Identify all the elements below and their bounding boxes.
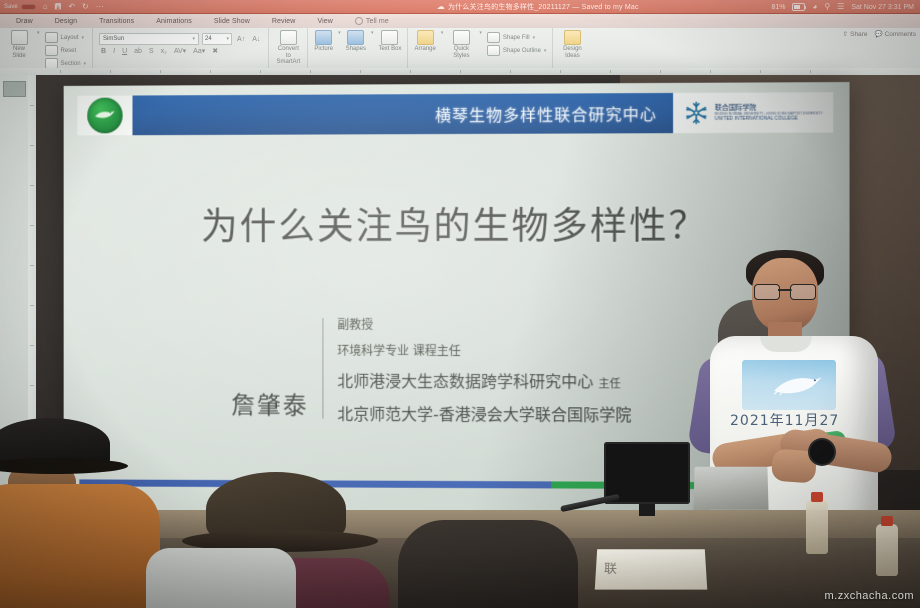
autosave-switch[interactable] (21, 4, 36, 10)
shapes-icon (347, 30, 364, 45)
presenter-title-line: 副教授 (337, 316, 631, 333)
control-center-icon[interactable]: ☰ (837, 3, 844, 11)
uic-name-en: UNITED INTERNATIONAL COLLEGE (715, 116, 823, 121)
shape-fill-label: Shape Fill (503, 35, 530, 41)
shape-outline-chevron-down-icon[interactable]: ▾ (544, 48, 547, 54)
undo-icon[interactable]: ↶ (68, 3, 75, 11)
font-name-input[interactable]: SimSun ▾ (99, 33, 199, 45)
share-comments-bar: ⇧ Share 💬 Comments (843, 30, 916, 38)
bird-icon (93, 108, 117, 120)
tab-animations[interactable]: Animations (145, 18, 203, 25)
clear-formatting-icon[interactable]: ✖ (210, 47, 220, 55)
presenter-role-line: 环境科学专业 课程主任 (337, 342, 631, 359)
quick-styles-label: Quick Styles (448, 46, 474, 59)
presenter-center-role: 主任 (599, 377, 621, 390)
slide-options: Layout ▾ Reset Section ▾ (45, 30, 87, 69)
picture-chevron-down-icon[interactable]: ▾ (338, 30, 341, 36)
shadow-icon[interactable]: S (147, 48, 156, 55)
uic-logo: 联合国际学院 BEIJING NORMAL UNIVERSITY - HONG … (673, 92, 833, 133)
wristwatch-icon (810, 440, 834, 464)
font-name-chevron-down-icon[interactable]: ▾ (193, 36, 196, 42)
picture-button[interactable]: Picture (314, 30, 333, 53)
reset-icon (45, 45, 58, 56)
smartart-icon (280, 30, 297, 45)
shapes-button[interactable]: Shapes (346, 30, 366, 53)
text-box-button[interactable]: Text Box (378, 30, 401, 53)
tell-me-box[interactable]: Tell me (344, 17, 400, 25)
picture-icon (315, 30, 332, 45)
slide-header-band: 横琴生物多样性联合研究中心 (132, 93, 673, 135)
comments-label: Comments (885, 31, 916, 38)
horizontal-ruler[interactable] (0, 68, 920, 75)
shape-outline-label: Shape Outline (503, 48, 541, 54)
quick-styles-button[interactable]: Quick Styles (448, 30, 474, 59)
design-ideas-button[interactable]: Design Ideas (559, 30, 585, 59)
audience-member-4 (146, 548, 296, 608)
ribbon-toolbar: New Slide ▾ Layout ▾ Reset Section ▾ (0, 28, 920, 68)
reset-button[interactable]: Reset (45, 45, 87, 56)
wifi-icon[interactable]: ◕ (812, 3, 817, 11)
layout-icon (45, 32, 58, 43)
desk-placard: 联 (595, 549, 708, 589)
font-name-value: SimSun (103, 36, 124, 42)
share-icon: ⇧ (843, 30, 848, 38)
search-icon[interactable]: ⚲ (824, 3, 830, 11)
home-icon[interactable]: ⌂ (43, 3, 48, 11)
font-size-value: 24 (205, 36, 212, 42)
water-bottle-1 (806, 500, 828, 554)
picture-label: Picture (314, 46, 333, 53)
slide-header: 横琴生物多样性联合研究中心 联合国际学院 BEIJING NORMAL UNIV… (77, 92, 833, 135)
text-box-icon (381, 30, 398, 45)
strikethrough-icon[interactable]: ab (132, 48, 144, 55)
tab-design[interactable]: Design (44, 18, 88, 25)
section-chevron-down-icon[interactable]: ▾ (84, 61, 87, 67)
presenter-details: 副教授 环境科学专业 课程主任 北师港浸大生态数据跨学科研究中心 主任 北京师范… (323, 316, 631, 426)
new-slide-icon (11, 30, 28, 45)
cloud-icon: ☁ (437, 3, 445, 11)
quick-styles-chevron-down-icon[interactable]: ▾ (479, 30, 482, 36)
water-bottle-2 (876, 524, 898, 576)
tshirt-date-text: 2021年11月27 (730, 410, 858, 430)
bird-emblem-logo (87, 98, 122, 134)
slide-title: 为什么关注鸟的生物多样性？ (64, 195, 850, 250)
character-spacing-icon[interactable]: AV▾ (172, 47, 188, 55)
shape-fill-icon (487, 32, 500, 43)
bold-icon[interactable]: B (99, 48, 108, 55)
clock[interactable]: Sat Nov 27 3:31 PM (851, 4, 914, 11)
mac-menu-bar: Save ⌂ 🖪 ↶ ↻ ⋯ ☁ 为什么关注鸟的生物多样性_20211127 —… (0, 0, 920, 14)
placard-text: 联 (604, 559, 618, 577)
battery-percent: 81% (771, 4, 785, 11)
document-title-bar: ☁ 为什么关注鸟的生物多样性_20211127 — Saved to my Ma… (304, 2, 771, 12)
shapes-chevron-down-icon[interactable]: ▾ (371, 30, 374, 36)
quick-access-toolbar: Save ⌂ 🖪 ↶ ↻ ⋯ (0, 3, 304, 11)
subscript-icon[interactable]: x₂ (159, 48, 169, 55)
audience-member-3 (398, 520, 578, 608)
design-ideas-icon (564, 30, 581, 45)
uic-snowflake-icon (683, 100, 709, 126)
shape-format-options: Shape Fill ▾ Shape Outline ▾ (487, 30, 547, 56)
screenshot-root: Save ⌂ 🖪 ↶ ↻ ⋯ ☁ 为什么关注鸟的生物多样性_20211127 —… (0, 0, 920, 608)
shape-fill-chevron-down-icon[interactable]: ▾ (533, 35, 536, 41)
increase-font-size-icon[interactable]: A↑ (235, 36, 247, 43)
layout-button[interactable]: Layout ▾ (45, 32, 87, 43)
font-row-1: SimSun ▾ 24 ▾ A↑ A↓ (99, 33, 262, 45)
new-slide-button[interactable]: New Slide (6, 30, 32, 59)
autosave-toggle[interactable]: Save (4, 4, 36, 10)
presenter-center-line: 北师港浸大生态数据跨学科研究中心 主任 (337, 368, 631, 393)
tab-view[interactable]: View (306, 18, 343, 25)
design-ideas-label: Design Ideas (559, 46, 585, 59)
comments-button[interactable]: 💬 Comments (874, 30, 916, 38)
presenter-university-line: 北京师范大学-香港浸会大学联合国际学院 (337, 401, 631, 426)
tab-draw[interactable]: Draw (0, 18, 44, 25)
tshirt-bird-graphic (742, 360, 836, 410)
tell-me-label: Tell me (366, 18, 389, 25)
share-button[interactable]: ⇧ Share (843, 30, 868, 38)
quick-styles-icon (453, 30, 470, 45)
mac-status-items: 81% ◕ ⚲ ☰ Sat Nov 27 3:31 PM (771, 3, 920, 11)
arrange-chevron-down-icon[interactable]: ▾ (441, 30, 444, 36)
lightbulb-icon (355, 17, 363, 25)
center-logo-holder (77, 96, 132, 136)
ribbon-group-convert: Convert to SmartArt (269, 28, 308, 70)
tab-slide-show[interactable]: Slide Show (203, 18, 261, 25)
new-slide-label: New Slide (6, 46, 32, 59)
audience-member-1 (0, 418, 140, 608)
ribbon-group-font: SimSun ▾ 24 ▾ A↑ A↓ B I U ab S x₂ (93, 28, 269, 70)
presenter-name: 詹肇泰 (190, 316, 323, 425)
underline-icon[interactable]: U (120, 48, 129, 55)
decrease-font-size-icon[interactable]: A↓ (250, 36, 262, 43)
share-label: Share (850, 31, 867, 38)
ribbon-group-slides: New Slide ▾ Layout ▾ Reset Section ▾ (0, 28, 93, 70)
slide-thumbnail-1[interactable] (3, 81, 26, 97)
font-size-chevron-down-icon[interactable]: ▾ (227, 36, 230, 42)
presenter-center-name: 北师港浸大生态数据跨学科研究中心 (337, 372, 593, 392)
desk-laptop (693, 467, 768, 510)
uic-wordmark: 联合国际学院 BEIJING NORMAL UNIVERSITY - HONG … (715, 104, 823, 121)
font-row-2: B I U ab S x₂ AV▾ Aa▾ ✖ (99, 47, 262, 55)
ribbon-group-insert: Picture ▾ Shapes ▾ Text Box (308, 28, 408, 70)
arrange-icon (417, 30, 434, 45)
convert-label: Convert to SmartArt (275, 46, 301, 66)
slide-header-title: 横琴生物多样性联合研究中心 (435, 101, 657, 126)
redo-icon[interactable]: ↻ (82, 3, 89, 11)
uic-name-cn: 联合国际学院 (715, 104, 823, 112)
section-label: Section (61, 61, 81, 67)
autosave-label: Save (4, 4, 18, 10)
font-size-input[interactable]: 24 ▾ (202, 33, 232, 45)
tab-review[interactable]: Review (261, 18, 307, 25)
reset-label: Reset (61, 48, 77, 54)
battery-icon (792, 3, 805, 11)
font-controls: SimSun ▾ 24 ▾ A↑ A↓ B I U ab S x₂ (99, 30, 262, 55)
convert-to-smartart-button[interactable]: Convert to SmartArt (275, 30, 301, 66)
save-icon[interactable]: 🖪 (55, 3, 62, 11)
shape-outline-button[interactable]: Shape Outline ▾ (487, 45, 547, 56)
ribbon-tab-bar: Draw Design Transitions Animations Slide… (0, 14, 920, 28)
document-title: 为什么关注鸟的生物多样性_20211127 — Saved to my Mac (448, 2, 639, 12)
site-watermark: m.zxchacha.com (824, 590, 914, 602)
layout-chevron-down-icon[interactable]: ▾ (82, 35, 85, 41)
new-slide-chevron-down-icon[interactable]: ▾ (37, 30, 40, 36)
eyeglasses-icon (754, 284, 816, 299)
ribbon-group-designer: Design Ideas (553, 28, 591, 70)
comment-icon: 💬 (874, 30, 882, 38)
more-icon[interactable]: ⋯ (96, 3, 104, 11)
arrange-button[interactable]: Arrange (414, 30, 435, 53)
shape-fill-button[interactable]: Shape Fill ▾ (487, 32, 547, 43)
speaker-collar (760, 336, 812, 352)
layout-label: Layout (61, 35, 79, 41)
italic-icon[interactable]: I (111, 48, 117, 55)
tab-transitions[interactable]: Transitions (88, 18, 145, 25)
change-case-icon[interactable]: Aa▾ (191, 47, 207, 55)
shapes-label: Shapes (346, 46, 366, 53)
crane-bird-icon (772, 374, 824, 396)
arrange-label: Arrange (414, 46, 435, 53)
ribbon-group-drawing: Arrange ▾ Quick Styles ▾ Shape Fill ▾ Sh… (408, 28, 553, 70)
text-box-label: Text Box (378, 46, 401, 53)
shape-outline-icon (487, 45, 500, 56)
